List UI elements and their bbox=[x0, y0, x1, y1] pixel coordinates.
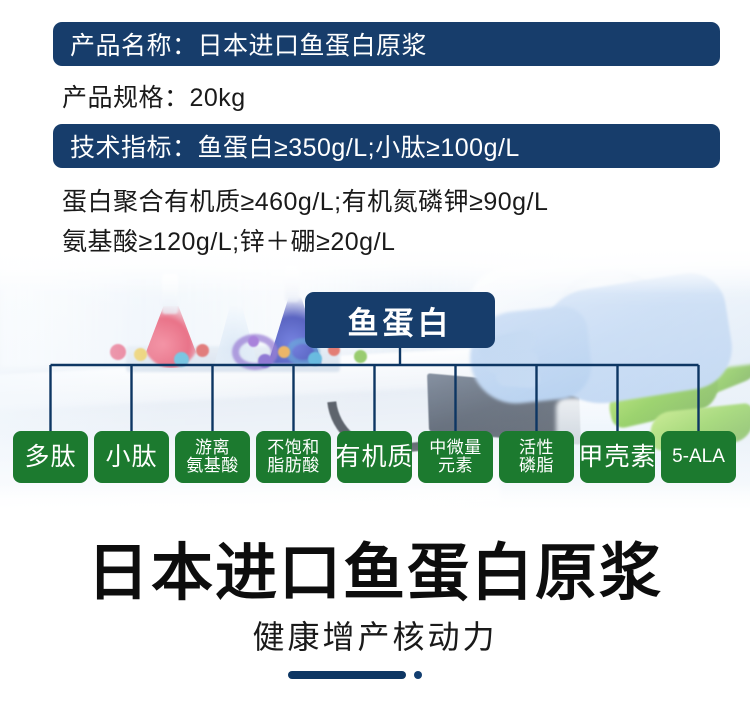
carousel-indicator-dot[interactable] bbox=[414, 671, 422, 679]
tech-index-bar: 技术指标：鱼蛋白≥350g/L;小肽≥100g/L bbox=[53, 124, 720, 168]
product-name-bar: 产品名称：日本进口鱼蛋白原浆 bbox=[53, 22, 720, 66]
tech-extra-line-2: 氨基酸≥120g/L;锌＋硼≥20g/L bbox=[62, 222, 395, 258]
component-tag-label: 游离 bbox=[195, 439, 230, 457]
carousel-indicator[interactable] bbox=[0, 668, 750, 682]
carousel-indicator-active[interactable] bbox=[288, 671, 406, 679]
product-banner: 产品名称：日本进口鱼蛋白原浆 产品规格：20kg 技术指标：鱼蛋白≥350g/L… bbox=[0, 0, 750, 706]
component-tag: 游离氨基酸 bbox=[175, 431, 250, 483]
center-chip-fish-protein: 鱼蛋白 bbox=[305, 292, 495, 348]
component-tag: 有机质 bbox=[337, 431, 412, 483]
component-tag-label: 磷脂 bbox=[519, 457, 554, 475]
component-tag: 中微量元素 bbox=[418, 431, 493, 483]
component-tag: 小肽 bbox=[94, 431, 169, 483]
tech-extra-line-1: 蛋白聚合有机质≥460g/L;有机氮磷钾≥90g/L bbox=[62, 182, 548, 218]
component-tag: 甲壳素 bbox=[580, 431, 655, 483]
component-tag: 5-ALA bbox=[661, 431, 736, 483]
page-headline: 日本进口鱼蛋白原浆 bbox=[0, 543, 750, 605]
component-tag: 多肽 bbox=[13, 431, 88, 483]
component-tag: 不饱和脂肪酸 bbox=[256, 431, 331, 483]
component-tag-label: 活性 bbox=[519, 439, 554, 457]
component-tag-label: 甲壳素 bbox=[579, 444, 657, 471]
component-tag-label: 中微量 bbox=[429, 439, 482, 457]
component-tag-label: 5-ALA bbox=[672, 447, 725, 468]
component-tag-label: 脂肪酸 bbox=[267, 457, 320, 475]
product-spec-line: 产品规格：20kg bbox=[62, 78, 246, 114]
connector-lines bbox=[0, 340, 750, 440]
component-tag-label: 不饱和 bbox=[267, 439, 320, 457]
component-tag-label: 有机质 bbox=[336, 444, 414, 471]
component-tag-label: 氨基酸 bbox=[186, 457, 239, 475]
component-tag: 活性磷脂 bbox=[499, 431, 574, 483]
component-tag-label: 元素 bbox=[438, 457, 473, 475]
component-tag-label: 小肽 bbox=[105, 444, 157, 471]
page-subheadline: 健康增产核动力 bbox=[0, 621, 750, 653]
component-tag-label: 多肽 bbox=[24, 444, 76, 471]
